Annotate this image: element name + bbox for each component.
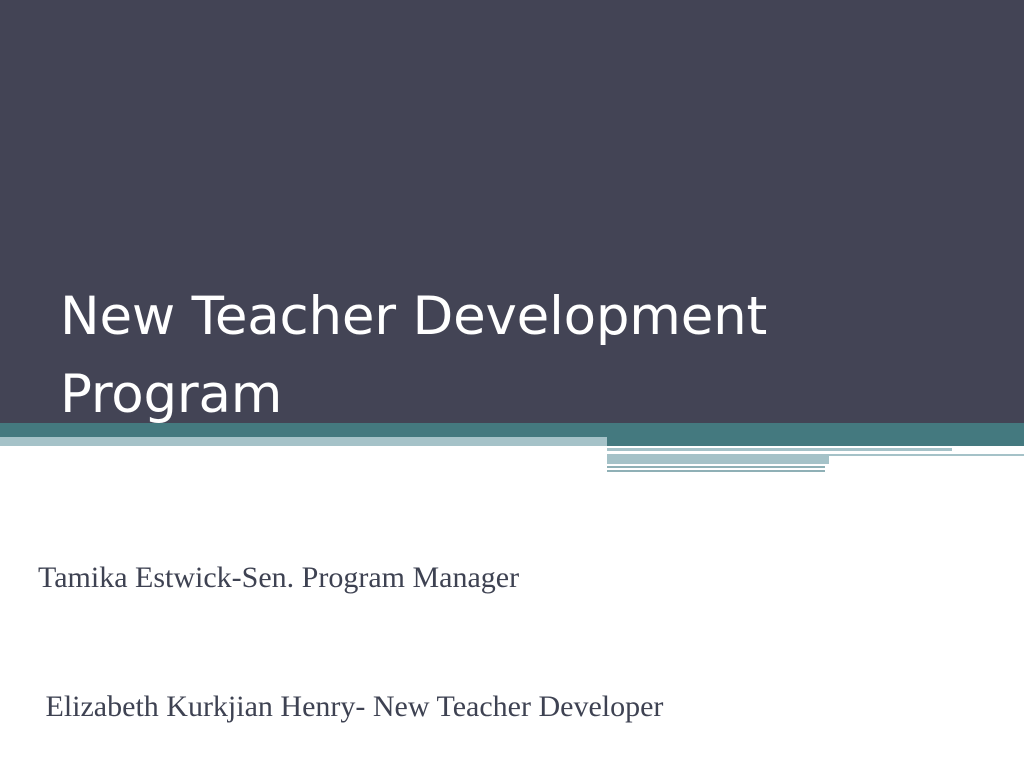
decorative-band-group	[0, 423, 1024, 473]
slide-title: New Teacher Development Program	[60, 278, 850, 423]
title-panel: New Teacher Development Program	[0, 0, 1024, 423]
presenter-line: Elizabeth Kurkjian Henry- New Teacher De…	[38, 685, 938, 728]
teal-band-right	[607, 437, 1024, 446]
presenter-list: Tamika Estwick-Sen. Program Manager Eliz…	[38, 470, 938, 768]
slide-canvas: New Teacher Development Program Tamika E…	[0, 0, 1024, 768]
presenter-line: Tamika Estwick-Sen. Program Manager	[38, 556, 938, 599]
hairline-rule-upper	[607, 466, 825, 468]
light-band-left	[0, 437, 607, 446]
light-rule-notch	[829, 456, 1024, 464]
light-rule-thin	[607, 448, 952, 451]
teal-band-full-width	[0, 423, 1024, 437]
